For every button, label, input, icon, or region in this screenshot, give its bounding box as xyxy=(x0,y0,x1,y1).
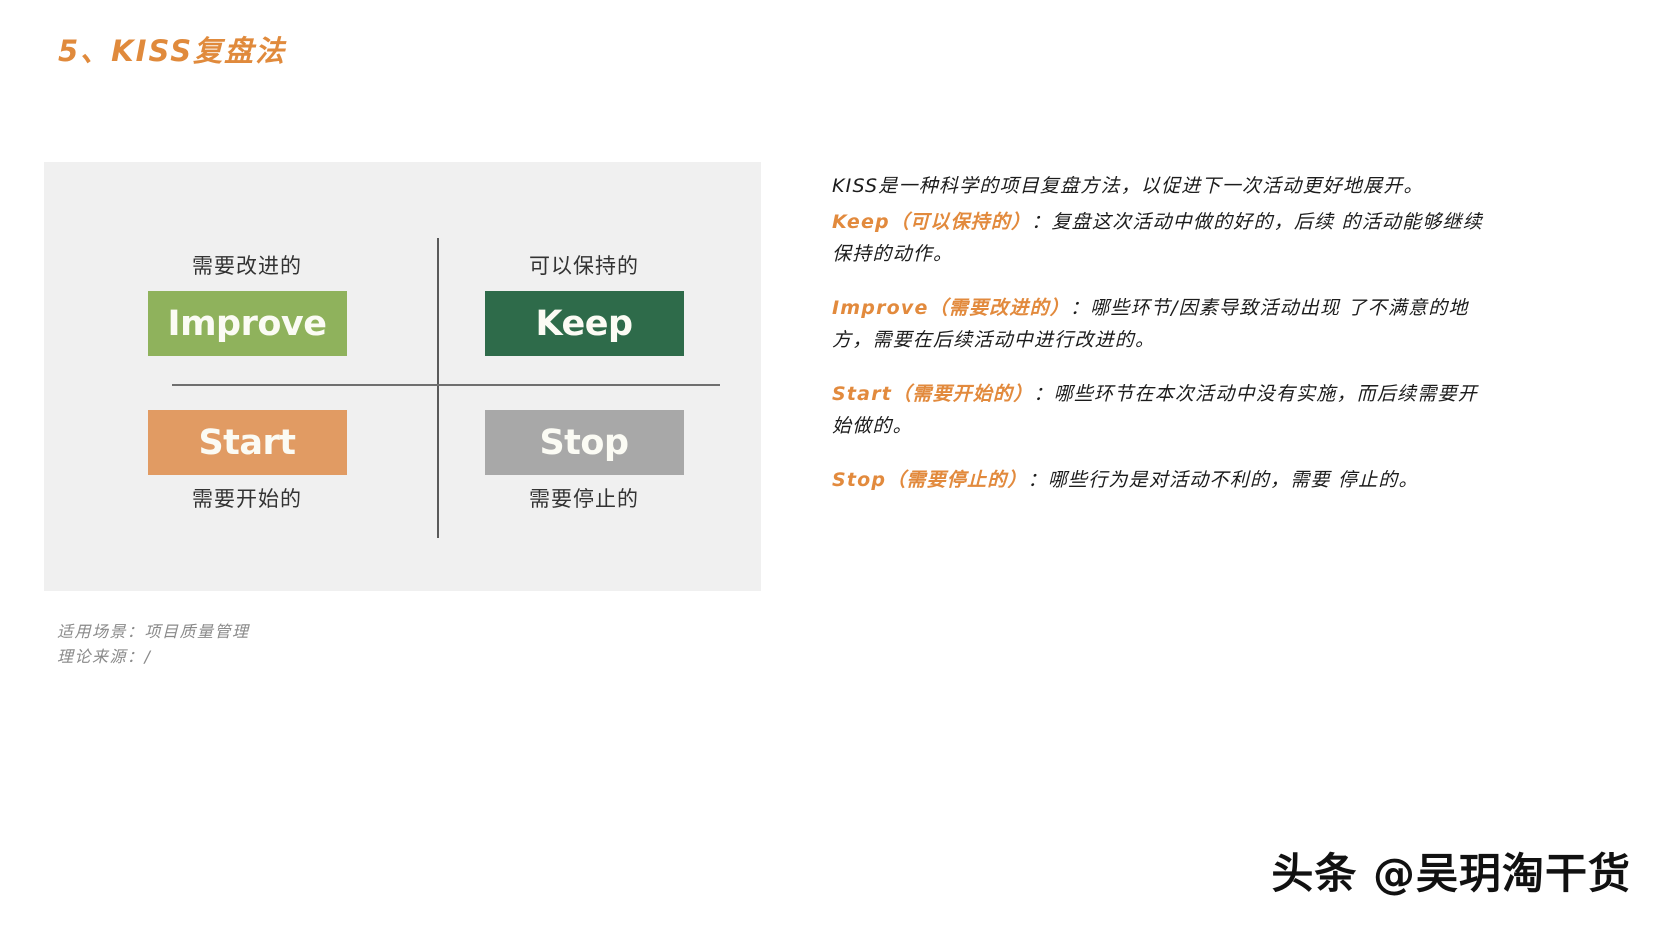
quadrant-start: Start 需要开始的 xyxy=(122,410,372,512)
watermark: 头条 @吴玥淘干货 xyxy=(1271,840,1631,901)
quadrant-keep: 可以保持的 Keep xyxy=(459,254,709,356)
slide-page: 5、KISS复盘法 需要改进的 Improve 可以保持的 Keep Start… xyxy=(0,0,1653,929)
quadrant-grid: 需要改进的 Improve 可以保持的 Keep Start 需要开始的 Sto… xyxy=(44,162,761,591)
quadrant-improve: 需要改进的 Improve xyxy=(122,254,372,356)
quadrant-stop-caption: 需要停止的 xyxy=(529,487,639,512)
quadrant-start-box: Start xyxy=(148,410,347,475)
description-intro: KISS是一种科学的项目复盘方法，以促进下一次活动更好地展开。 xyxy=(832,170,1492,202)
body-stop: ：哪些行为是对活动不利的，需要 停止的。 xyxy=(1028,469,1419,491)
vertical-divider xyxy=(437,238,439,538)
keyword-start: Start（需要开始的） xyxy=(832,383,1033,405)
quadrant-keep-box: Keep xyxy=(485,291,684,356)
note-scenario: 适用场景：项目质量管理 xyxy=(57,620,250,645)
kiss-quadrant-diagram: 需要改进的 Improve 可以保持的 Keep Start 需要开始的 Sto… xyxy=(44,162,761,591)
note-source: 理论来源：/ xyxy=(57,645,250,670)
quadrant-keep-caption: 可以保持的 xyxy=(529,254,639,279)
keyword-stop: Stop（需要停止的） xyxy=(832,469,1028,491)
quadrant-start-caption: 需要开始的 xyxy=(192,487,302,512)
watermark-handle: @吴玥淘干货 xyxy=(1373,849,1631,898)
description-item-keep: Keep（可以保持的）：复盘这次活动中做的好的，后续 的活动能够继续保持的动作。 xyxy=(832,206,1492,270)
description-column: KISS是一种科学的项目复盘方法，以促进下一次活动更好地展开。 Keep（可以保… xyxy=(832,170,1492,518)
description-item-start: Start（需要开始的）：哪些环节在本次活动中没有实施，而后续需要开始做的。 xyxy=(832,378,1492,442)
watermark-platform: 头条 xyxy=(1271,849,1357,898)
quadrant-stop-box: Stop xyxy=(485,410,684,475)
quadrant-improve-box: Improve xyxy=(148,291,347,356)
keyword-keep: Keep（可以保持的） xyxy=(832,211,1031,233)
horizontal-divider xyxy=(172,384,720,386)
quadrant-stop: Stop 需要停止的 xyxy=(459,410,709,512)
page-title: 5、KISS复盘法 xyxy=(58,28,286,70)
description-item-improve: Improve（需要改进的）：哪些环节/因素导致活动出现 了不满意的地方，需要在… xyxy=(832,292,1492,356)
diagram-notes: 适用场景：项目质量管理 理论来源：/ xyxy=(57,620,250,670)
description-item-stop: Stop（需要停止的）：哪些行为是对活动不利的，需要 停止的。 xyxy=(832,464,1492,496)
quadrant-improve-caption: 需要改进的 xyxy=(192,254,302,279)
keyword-improve: Improve（需要改进的） xyxy=(832,297,1070,319)
